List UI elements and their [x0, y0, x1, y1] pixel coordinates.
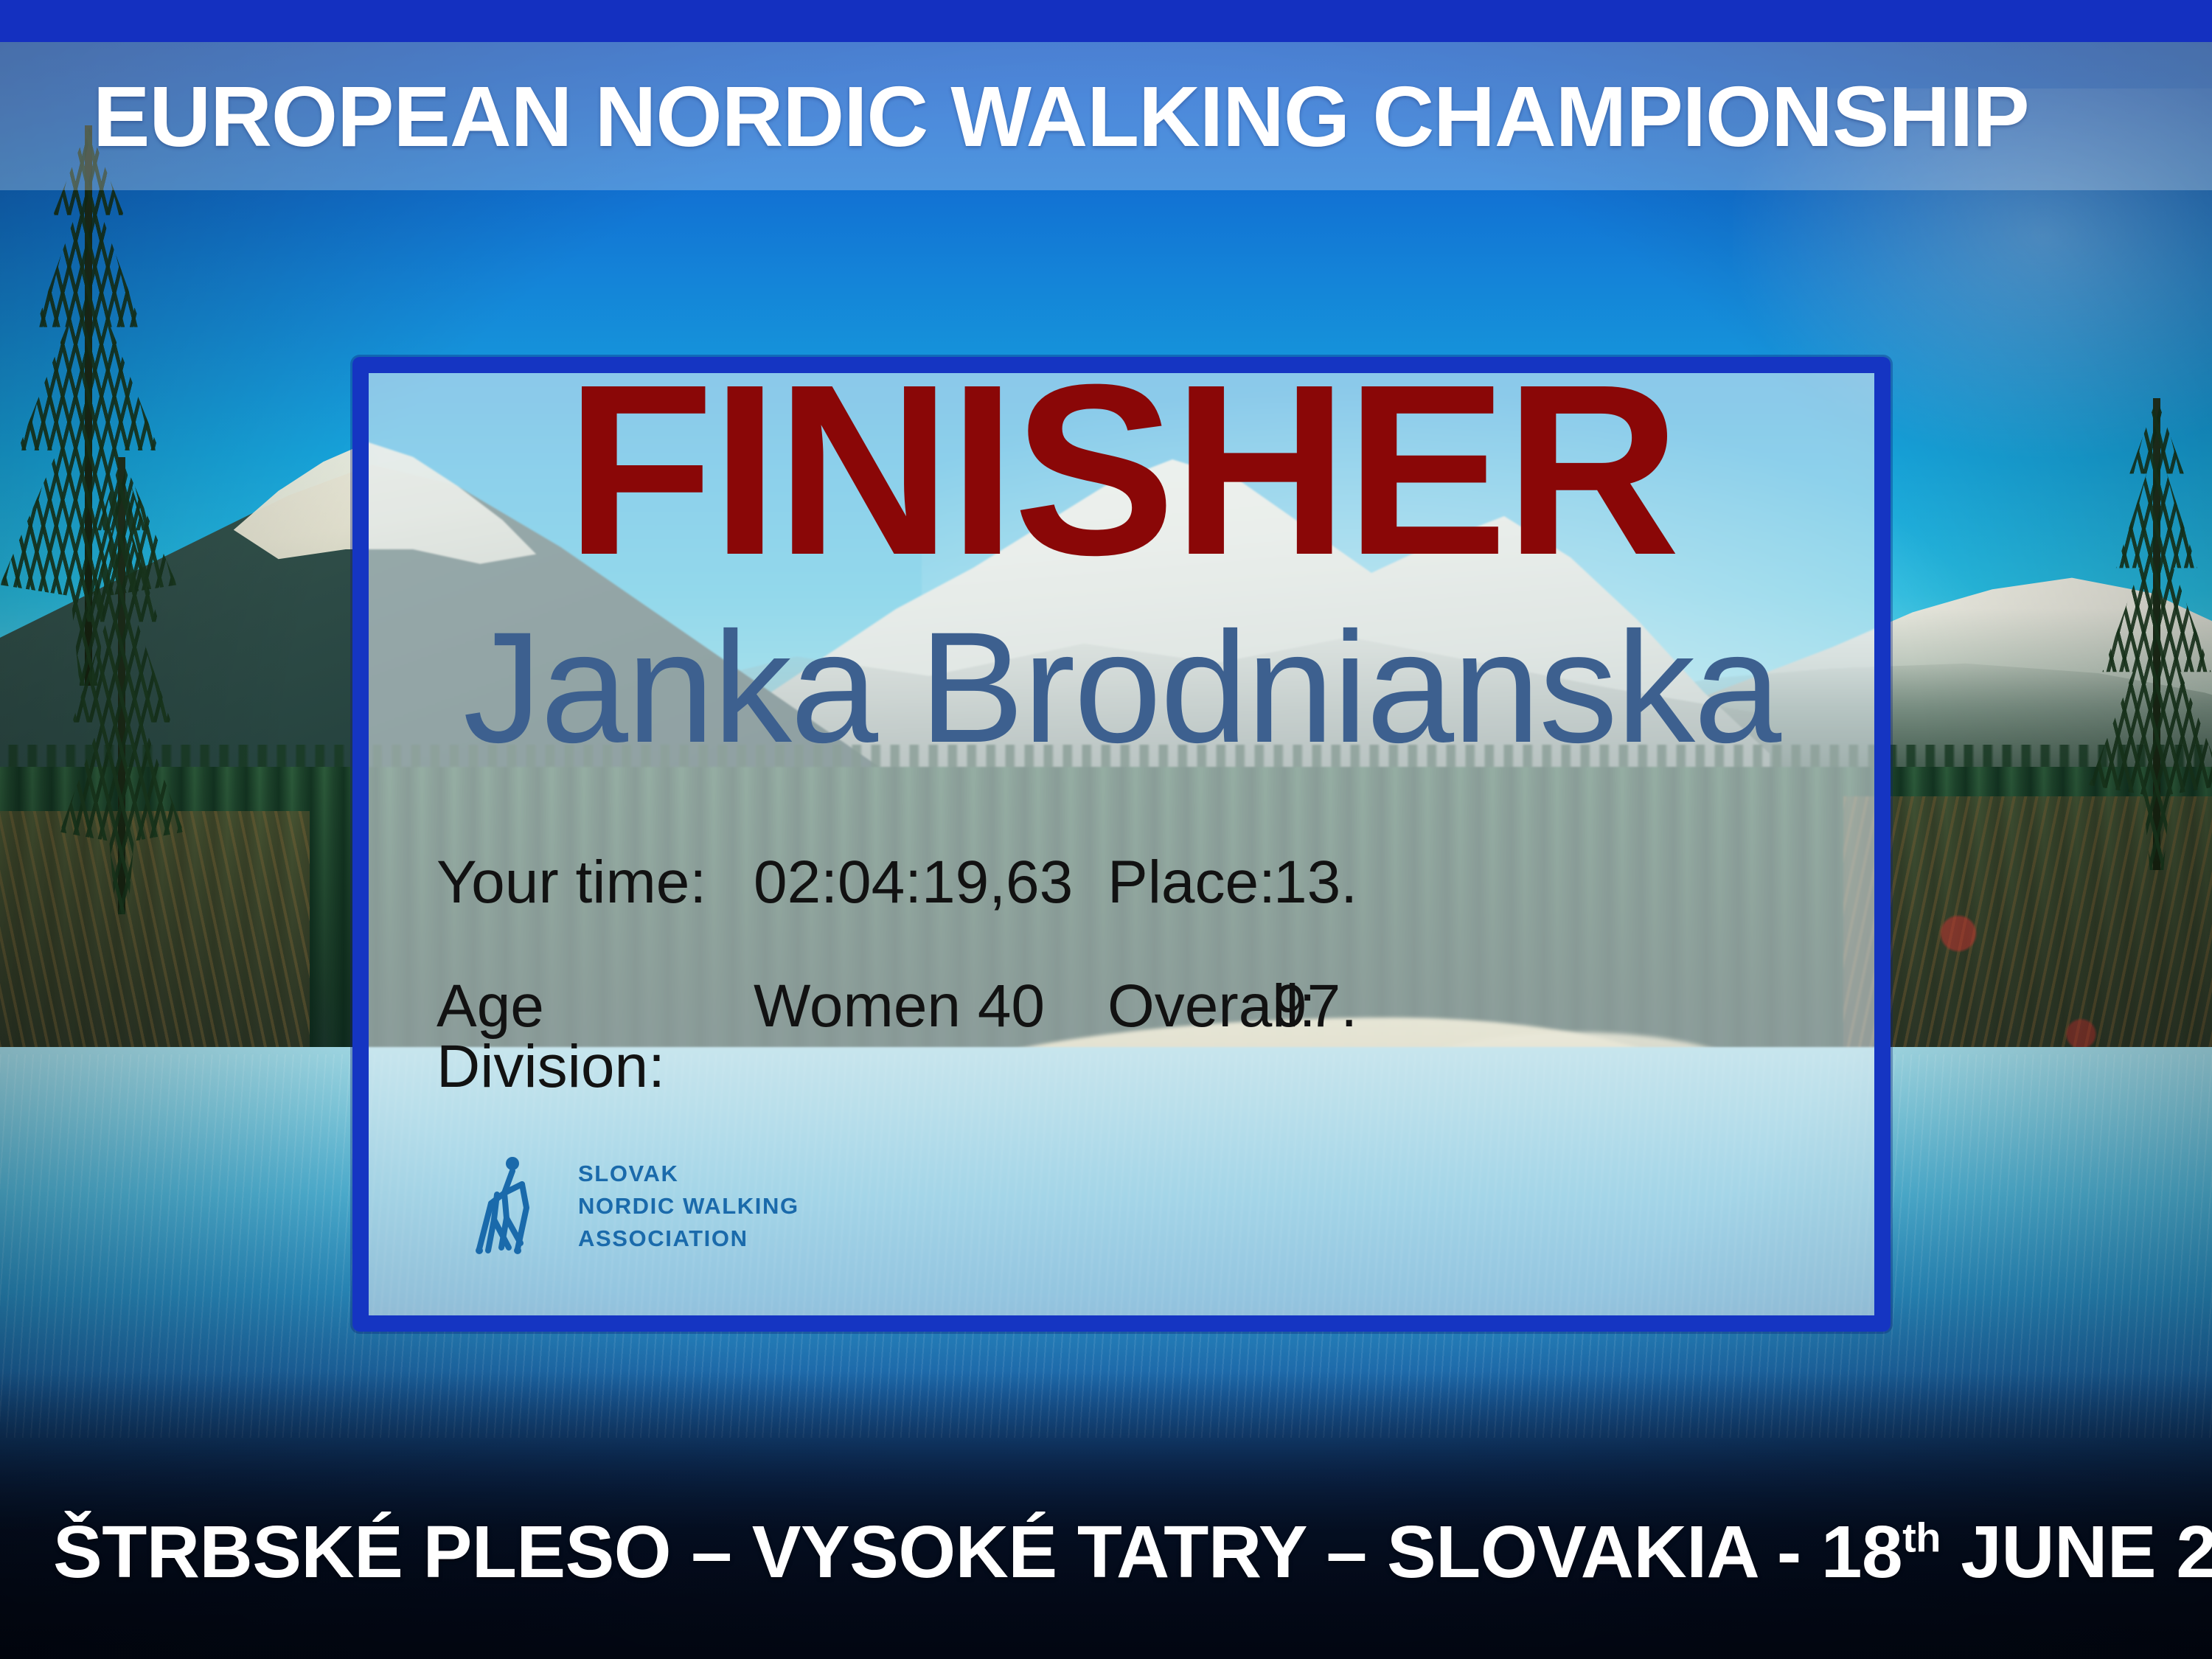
finisher-certificate-card: FINISHER Janka Brodnianska Your time: 02… — [352, 357, 1891, 1332]
age-division-value: Women 40 — [754, 976, 1107, 1037]
footer-banner: ŠTRBSKÉ PLESO – VYSOKÉ TATRY – SLOVAKIA … — [0, 1445, 2212, 1659]
championship-title: EUROPEAN NORDIC WALKING CHAMPIONSHIP — [0, 74, 2029, 159]
footer-day: 18 — [1821, 1511, 1902, 1593]
header-banner: EUROPEAN NORDIC WALKING CHAMPIONSHIP — [0, 42, 2212, 190]
result-row: Age Division: Women 40 Overall: 97. — [437, 976, 1690, 1097]
event-location-date: ŠTRBSKÉ PLESO – VYSOKÉ TATRY – SLOVAKIA … — [0, 1515, 2212, 1589]
footer-location: ŠTRBSKÉ PLESO – VYSOKÉ TATRY – SLOVAKIA … — [53, 1511, 1821, 1593]
footer-month-year: JUNE 2016 — [1941, 1511, 2212, 1593]
footer-day-suffix: th — [1902, 1514, 1941, 1561]
finisher-heading: FINISHER — [369, 357, 1874, 591]
athlete-name: Janka Brodnianska — [369, 609, 1874, 767]
logo-line-1: SLOVAK — [578, 1158, 799, 1190]
logo-line-3: ASSOCIATION — [578, 1222, 799, 1255]
association-logo: SLOVAK NORDIC WALKING ASSOCIATION — [472, 1155, 799, 1258]
age-division-label: Age Division: — [437, 976, 754, 1097]
logo-line-2: NORDIC WALKING — [578, 1190, 799, 1222]
place-value: 13. — [1273, 852, 1357, 913]
nordic-walker-icon — [472, 1155, 559, 1258]
association-name: SLOVAK NORDIC WALKING ASSOCIATION — [578, 1158, 799, 1255]
header-top-strip — [0, 0, 2212, 42]
overall-label: Overall: — [1107, 976, 1273, 1037]
your-time-label: Your time: — [437, 852, 754, 913]
your-time-value: 02:04:19,63 — [754, 852, 1107, 913]
certificate-image: EUROPEAN NORDIC WALKING CHAMPIONSHIP FIN… — [0, 0, 2212, 1659]
overall-value: 97. — [1273, 976, 1357, 1037]
place-label: Place: — [1107, 852, 1273, 913]
results-table: Your time: 02:04:19,63 Place: 13. Age Di… — [437, 852, 1690, 1161]
result-row: Your time: 02:04:19,63 Place: 13. — [437, 852, 1690, 913]
